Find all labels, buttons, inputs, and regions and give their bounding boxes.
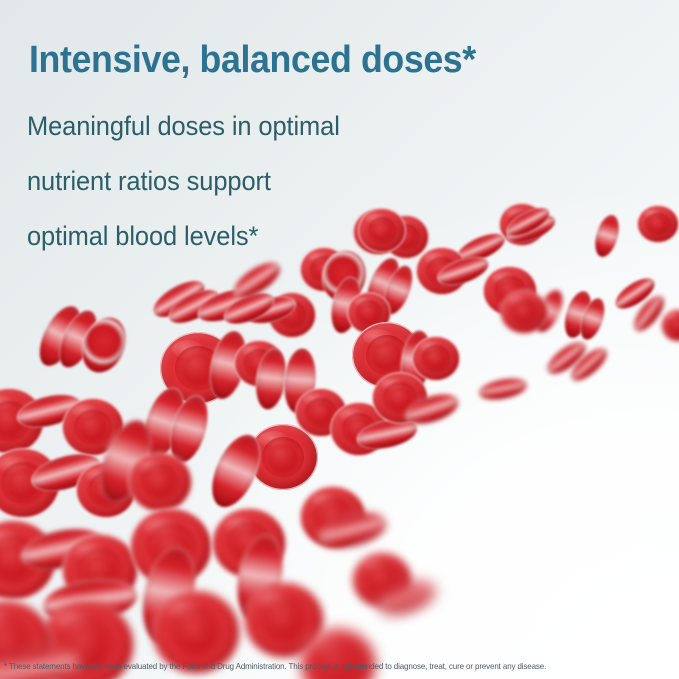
blood-cell	[477, 374, 530, 403]
blood-cell	[412, 336, 460, 381]
blood-cell	[358, 208, 406, 253]
blood-cells-illustration	[0, 0, 679, 679]
blood-cell	[661, 309, 679, 342]
blood-cell	[590, 212, 623, 260]
fda-disclaimer: * These statements have not been evaluat…	[4, 662, 666, 672]
blood-cell	[637, 205, 679, 243]
promo-banner: Intensive, balanced doses* Meaningful do…	[0, 0, 679, 679]
blood-cell	[500, 290, 548, 334]
blood-cell	[128, 452, 192, 512]
